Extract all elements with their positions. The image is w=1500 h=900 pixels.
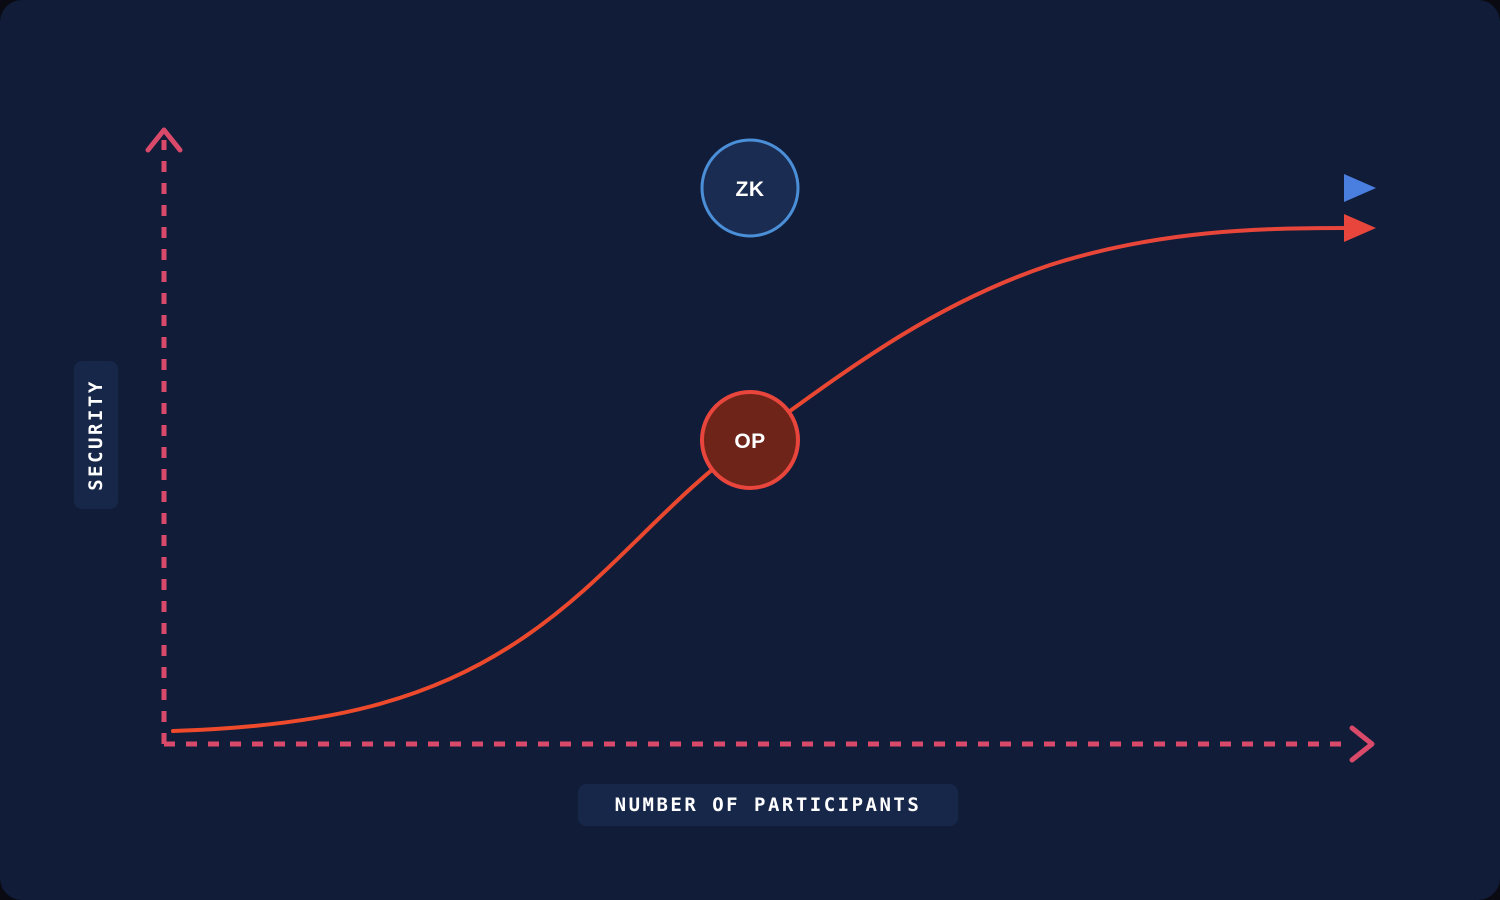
chart-plot: ZK OP (0, 0, 1500, 900)
node-zk-label: ZK (736, 178, 765, 201)
series-arrowhead-zk-icon (1344, 174, 1376, 202)
y-axis-label: SECURITY (85, 379, 107, 491)
x-axis-arrowhead-icon (1352, 728, 1372, 760)
x-axis-label: NUMBER OF PARTICIPANTS (578, 784, 958, 826)
node-op[interactable]: OP (702, 392, 798, 488)
series-arrowhead-op-icon (1344, 214, 1376, 242)
y-axis-label-badge: SECURITY (74, 361, 118, 509)
figure-stage: ZK OP NUMBER OF PARTICIPANTS SECURITY (0, 0, 1500, 900)
node-op-label: OP (734, 430, 765, 453)
node-zk[interactable]: ZK (702, 140, 798, 236)
chart-canvas: ZK OP NUMBER OF PARTICIPANTS SECURITY (0, 0, 1500, 900)
